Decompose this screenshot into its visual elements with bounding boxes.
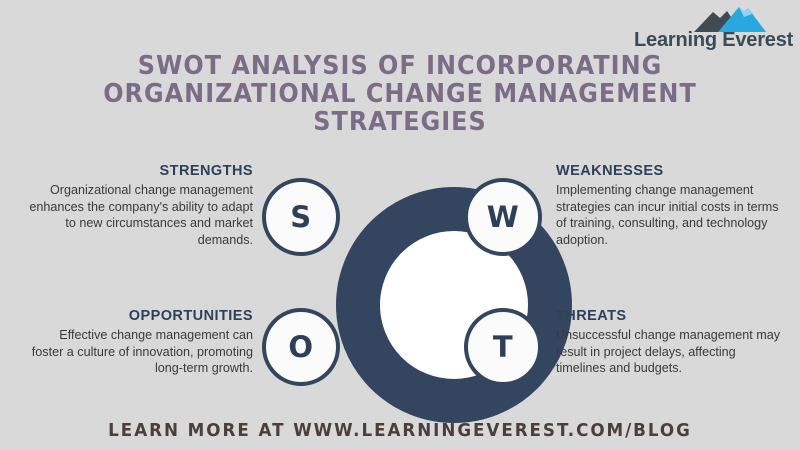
quadrant-opportunities: OPPORTUNITIES Effective change managemen…	[28, 308, 253, 377]
swot-node-letter: T	[493, 330, 513, 364]
title-line-3: STRATEGIES	[87, 108, 713, 136]
title-line-2: ORGANIZATIONAL CHANGE MANAGEMENT	[87, 80, 713, 108]
quadrant-threats: THREATS Unsuccessful change management m…	[556, 308, 781, 377]
quadrant-body-strengths: Organizational change management enhance…	[28, 182, 253, 248]
swot-diagram: S W O T	[262, 172, 554, 394]
quadrant-heading-weaknesses: WEAKNESSES	[556, 163, 781, 179]
quadrant-heading-threats: THREATS	[556, 308, 781, 324]
swot-node-letter: S	[290, 200, 311, 234]
logo-wordmark: Learning Everest	[634, 30, 792, 50]
quadrant-strengths: STRENGTHS Organizational change manageme…	[28, 163, 253, 248]
swot-node-opportunities[interactable]: O	[262, 308, 340, 386]
quadrant-body-threats: Unsuccessful change management may resul…	[556, 327, 781, 377]
page-title: SWOT ANALYSIS OF INCORPORATING ORGANIZAT…	[87, 52, 713, 136]
swot-node-letter: W	[487, 200, 520, 234]
swot-node-strengths[interactable]: S	[262, 178, 340, 256]
footer-cta[interactable]: LEARN MORE AT WWW.LEARNINGEVEREST.COM/BL…	[28, 420, 772, 441]
quadrant-heading-opportunities: OPPORTUNITIES	[28, 308, 253, 324]
quadrant-weaknesses: WEAKNESSES Implementing change managemen…	[556, 163, 781, 248]
swot-node-weaknesses[interactable]: W	[464, 178, 542, 256]
quadrant-heading-strengths: STRENGTHS	[28, 163, 253, 179]
quadrant-body-weaknesses: Implementing change management strategie…	[556, 182, 781, 248]
brand-logo: Learning Everest	[634, 6, 792, 52]
swot-node-threats[interactable]: T	[464, 308, 542, 386]
title-line-1: SWOT ANALYSIS OF INCORPORATING	[87, 52, 713, 80]
swot-node-letter: O	[288, 330, 313, 364]
quadrant-body-opportunities: Effective change management can foster a…	[28, 327, 253, 377]
